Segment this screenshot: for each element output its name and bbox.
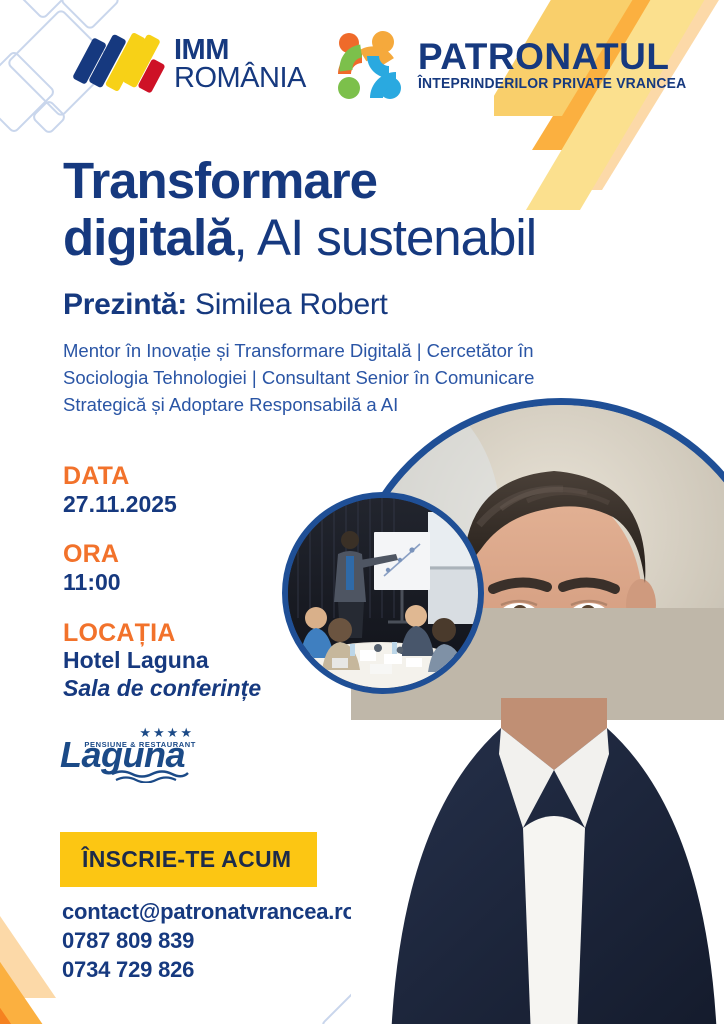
detail-time-value: 11:00 [63, 569, 313, 597]
decorative-diamond-icon [8, 0, 79, 20]
patronatul-line2: ÎNTEPRINDERILOR PRIVATE VRANCEA [418, 77, 686, 92]
logo-patronatul: PATRONATUL ÎNTEPRINDERILOR PRIVATE VRANC… [336, 30, 698, 100]
event-poster: IMM ROMÂNIA PATRONATUL [0, 0, 724, 1024]
logo-imm-romania: IMM ROMÂNIA [80, 32, 306, 98]
presenter-line: Prezintă: Similea Robert [63, 288, 663, 322]
detail-date-value: 27.11.2025 [63, 491, 313, 519]
title-line1: Transformare [63, 152, 377, 209]
laguna-wordmark: Laguna [60, 739, 200, 771]
detail-date: DATA 27.11.2025 [63, 462, 313, 518]
contact-block: contact@patronatvrancea.ro 0787 809 839 … [62, 897, 356, 984]
title-line2-rest: , AI sustenabil [234, 209, 537, 266]
portrait-area [344, 398, 724, 1024]
presenter-label: Prezintă: [63, 288, 187, 321]
detail-date-label: DATA [63, 462, 313, 491]
people-group-icon [336, 30, 410, 100]
event-details: DATA 27.11.2025 ORA 11:00 LOCAȚIA Hotel … [63, 462, 313, 725]
page-title: Transformare digitală, AI sustenabil [63, 152, 663, 266]
detail-location-value: Hotel Laguna [63, 647, 313, 675]
detail-time-label: ORA [63, 540, 313, 569]
conference-presentation-illustration [288, 498, 478, 688]
register-now-button[interactable]: ÎNSCRIE-TE ACUM [60, 832, 317, 887]
imm-line1: IMM [174, 37, 306, 65]
detail-location: LOCAȚIA Hotel Laguna Sala de conferințe [63, 619, 313, 703]
detail-location-label: LOCAȚIA [63, 619, 313, 648]
contact-phone-2[interactable]: 0734 729 826 [62, 955, 356, 984]
patronatul-line1: PATRONATUL [418, 38, 698, 75]
contact-phone-1[interactable]: 0787 809 839 [62, 926, 356, 955]
contact-email[interactable]: contact@patronatvrancea.ro [62, 897, 356, 926]
imm-line2: ROMÂNIA [174, 65, 306, 93]
logo-laguna-venue: ★★★★ PENSIUNE & RESTAURANT Laguna [60, 726, 200, 788]
header-logos: IMM ROMÂNIA PATRONATUL [80, 30, 697, 100]
decorative-diamond-icon [59, 0, 121, 31]
presenter-name: Similea Robert [195, 288, 388, 321]
wave-lines-icon [110, 769, 190, 783]
decorative-diamond-icon [0, 50, 56, 135]
decorative-diamond-icon [31, 99, 68, 136]
imm-romania-mark-icon [80, 32, 164, 98]
conference-scene-inset-photo [282, 492, 484, 694]
patronatul-wordmark: PATRONATUL ÎNTEPRINDERILOR PRIVATE VRANC… [418, 38, 698, 92]
patronatul-people-mark-icon [336, 30, 410, 100]
title-block: Transformare digitală, AI sustenabil Pre… [63, 152, 663, 322]
imm-romania-wordmark: IMM ROMÂNIA [174, 37, 306, 92]
detail-location-room: Sala de conferințe [63, 675, 313, 703]
detail-time: ORA 11:00 [63, 540, 313, 596]
title-line2-bold: digitală [63, 209, 234, 266]
